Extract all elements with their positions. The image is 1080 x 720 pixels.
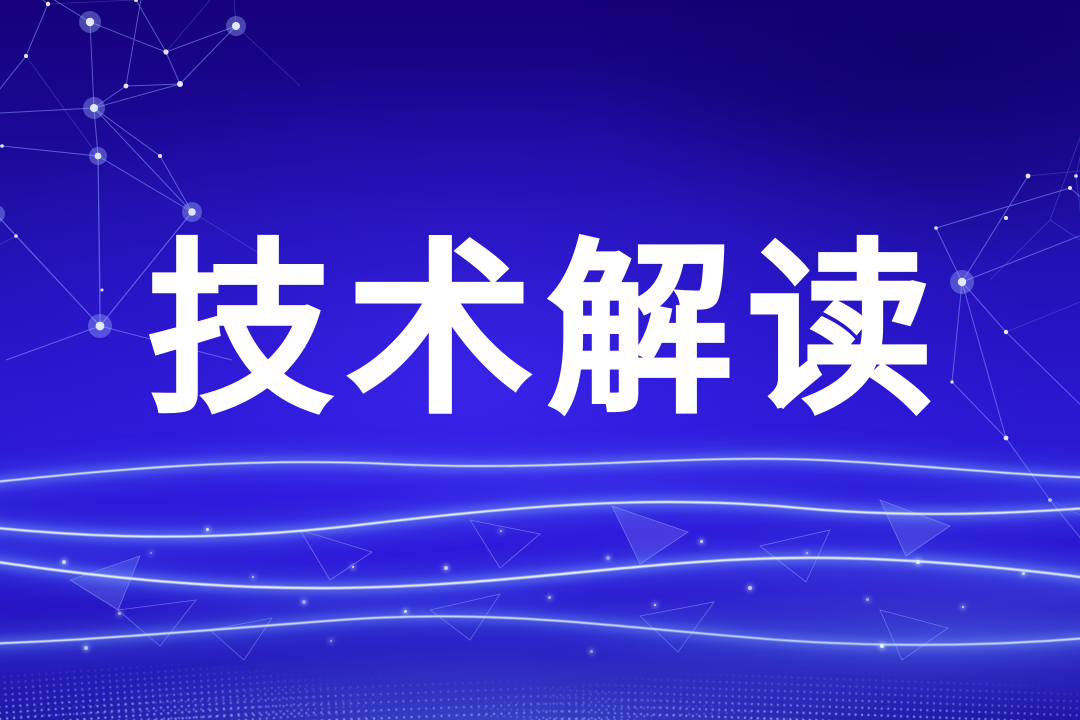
network-decoration-top-left	[0, 0, 400, 360]
particle-wave-field	[0, 420, 1080, 720]
light-streak-crest	[0, 598, 1080, 668]
poster-canvas: 技术解读	[0, 0, 1080, 720]
